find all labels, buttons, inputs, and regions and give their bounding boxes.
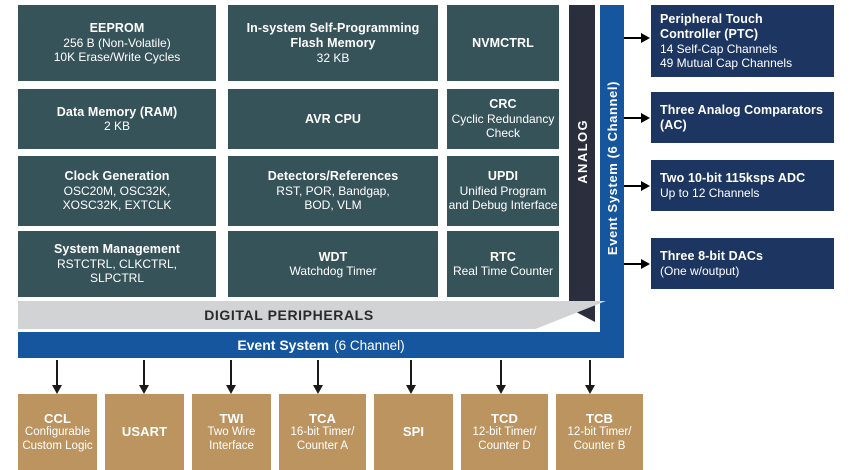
block-title: Detectors/References xyxy=(228,169,438,184)
block-wdt[interactable]: WDT Watchdog Timer xyxy=(228,231,438,297)
event-system-label: Event System xyxy=(237,337,329,353)
block-dac[interactable]: Three 8-bit DACs (One w/output) xyxy=(651,238,834,289)
block-subtitle: OSC20M, OSC32K, xyxy=(18,184,216,198)
block-detail: Counter B xyxy=(556,440,643,454)
event-system-horizontal-bar: Event System (6 Channel) xyxy=(18,332,624,358)
arrow-to-dac-icon xyxy=(624,258,650,270)
event-system-channels: (6 Channel) xyxy=(334,338,405,353)
block-subtitle: Cyclic Redundancy xyxy=(447,112,559,126)
block-tcd[interactable]: TCD 12-bit Timer/ Counter D xyxy=(461,394,548,470)
block-title: CRC xyxy=(447,97,559,112)
block-subtitle: Real Time Counter xyxy=(447,264,559,278)
block-title-2: Controller (PTC) xyxy=(660,27,829,42)
arrow-to-tca-icon xyxy=(311,360,325,394)
block-spi[interactable]: SPI xyxy=(374,394,453,470)
block-detail: Interface xyxy=(192,440,271,454)
block-detail: SLPCTRL xyxy=(18,271,216,285)
block-avr-cpu[interactable]: AVR CPU xyxy=(228,89,438,149)
block-tca[interactable]: TCA 16-bit Timer/ Counter A xyxy=(279,394,366,470)
event-system-vertical-bar: Event System (6 Channel) xyxy=(600,5,624,332)
block-title: USART xyxy=(105,424,184,439)
block-title: WDT xyxy=(228,250,438,265)
block-detail: Custom Logic xyxy=(18,440,97,454)
digital-peripherals-label: DIGITAL PERIPHERALS xyxy=(204,307,374,323)
block-detail: Counter A xyxy=(279,440,366,454)
block-system-management[interactable]: System Management RSTCTRL, CLKCTRL, SLPC… xyxy=(18,231,216,297)
block-subtitle: Unified Program xyxy=(447,184,559,198)
block-eeprom[interactable]: EEPROM 256 B (Non-Volatile) 10K Erase/Wr… xyxy=(18,5,216,81)
arrow-to-spi-icon xyxy=(404,360,418,394)
block-title: Two 10-bit 115ksps ADC xyxy=(660,171,829,186)
block-subtitle: 256 B (Non-Volatile) xyxy=(18,36,216,50)
block-updi[interactable]: UPDI Unified Program and Debug Interface xyxy=(447,156,559,226)
block-diagram: EEPROM 256 B (Non-Volatile) 10K Erase/Wr… xyxy=(0,0,850,470)
block-crc[interactable]: CRC Cyclic Redundancy Check xyxy=(447,89,559,149)
block-title: TWI xyxy=(192,411,271,426)
block-nvmctrl[interactable]: NVMCTRL xyxy=(447,5,559,81)
block-data-memory-ram[interactable]: Data Memory (RAM) 2 KB xyxy=(18,89,216,149)
block-detail: Counter D xyxy=(461,440,548,454)
block-peripheral-touch-controller[interactable]: Peripheral Touch Controller (PTC) 14 Sel… xyxy=(651,5,834,77)
block-tcb[interactable]: TCB 12-bit Timer/ Counter B xyxy=(556,394,643,470)
block-title: Three 8-bit DACs xyxy=(660,249,829,264)
block-title: TCD xyxy=(461,411,548,426)
block-adc[interactable]: Two 10-bit 115ksps ADC Up to 12 Channels xyxy=(651,160,834,211)
block-subtitle: (One w/output) xyxy=(660,264,829,278)
block-title: Data Memory (RAM) xyxy=(18,105,216,120)
block-title-2: (AC) xyxy=(660,118,829,133)
block-subtitle: Configurable xyxy=(18,426,97,440)
arrow-to-usart-icon xyxy=(137,360,151,394)
arrow-to-tcd-icon xyxy=(494,360,508,394)
block-clock-generation[interactable]: Clock Generation OSC20M, OSC32K, XOSC32K… xyxy=(18,156,216,226)
block-title: EEPROM xyxy=(18,21,216,36)
block-detail: XOSC32K, EXTCLK xyxy=(18,198,216,212)
block-title: TCA xyxy=(279,411,366,426)
block-title: SPI xyxy=(374,424,453,439)
arrow-to-analog-comparators-icon xyxy=(624,112,650,124)
block-subtitle: Two Wire xyxy=(192,426,271,440)
block-twi[interactable]: TWI Two Wire Interface xyxy=(192,394,271,470)
digital-peripherals-band: DIGITAL PERIPHERALS xyxy=(18,301,606,329)
block-title: CCL xyxy=(18,411,97,426)
block-subtitle: 12-bit Timer/ xyxy=(461,426,548,440)
analog-bar: ANALOG xyxy=(569,5,595,297)
block-rtc[interactable]: RTC Real Time Counter xyxy=(447,231,559,297)
block-ccl[interactable]: CCL Configurable Custom Logic xyxy=(18,394,97,470)
arrow-to-ptc-icon xyxy=(624,32,650,44)
block-flash-memory[interactable]: In-system Self-Programming Flash Memory … xyxy=(228,5,438,81)
block-title: Clock Generation xyxy=(18,169,216,184)
block-detectors-references[interactable]: Detectors/References RST, POR, Bandgap, … xyxy=(228,156,438,226)
block-title: UPDI xyxy=(447,169,559,184)
block-detail: 10K Erase/Write Cycles xyxy=(18,50,216,64)
block-subtitle: Watchdog Timer xyxy=(228,264,438,278)
arrow-to-ccl-icon xyxy=(50,360,64,394)
block-subtitle: Up to 12 Channels xyxy=(660,186,829,200)
block-subtitle: 16-bit Timer/ xyxy=(279,426,366,440)
block-detail: Check xyxy=(447,126,559,140)
block-detail: BOD, VLM xyxy=(228,198,438,212)
event-system-vertical-label: Event System (6 Channel) xyxy=(605,81,620,255)
block-title: AVR CPU xyxy=(228,112,438,127)
analog-bar-label: ANALOG xyxy=(575,119,590,184)
block-detail-2: 49 Mutual Cap Channels xyxy=(660,56,829,70)
block-subtitle: 2 KB xyxy=(18,119,216,133)
block-subtitle: 12-bit Timer/ xyxy=(556,426,643,440)
block-detail: and Debug Interface xyxy=(447,198,559,212)
arrow-to-tcb-icon xyxy=(583,360,597,394)
arrow-to-adc-icon xyxy=(624,180,650,192)
block-title: TCB xyxy=(556,411,643,426)
arrow-to-twi-icon xyxy=(224,360,238,394)
block-subtitle: RSTCTRL, CLKCTRL, xyxy=(18,257,216,271)
block-title: Peripheral Touch xyxy=(660,12,829,27)
block-usart[interactable]: USART xyxy=(105,394,184,470)
block-subtitle: Flash Memory xyxy=(228,36,438,51)
block-title: System Management xyxy=(18,242,216,257)
block-detail: 14 Self-Cap Channels xyxy=(660,42,829,56)
block-detail: 32 KB xyxy=(228,51,438,65)
block-title: RTC xyxy=(447,250,559,265)
block-analog-comparators[interactable]: Three Analog Comparators (AC) xyxy=(651,92,834,143)
block-subtitle: RST, POR, Bandgap, xyxy=(228,184,438,198)
block-title: In-system Self-Programming xyxy=(228,21,438,36)
block-title: NVMCTRL xyxy=(447,36,559,51)
block-title: Three Analog Comparators xyxy=(660,103,829,118)
